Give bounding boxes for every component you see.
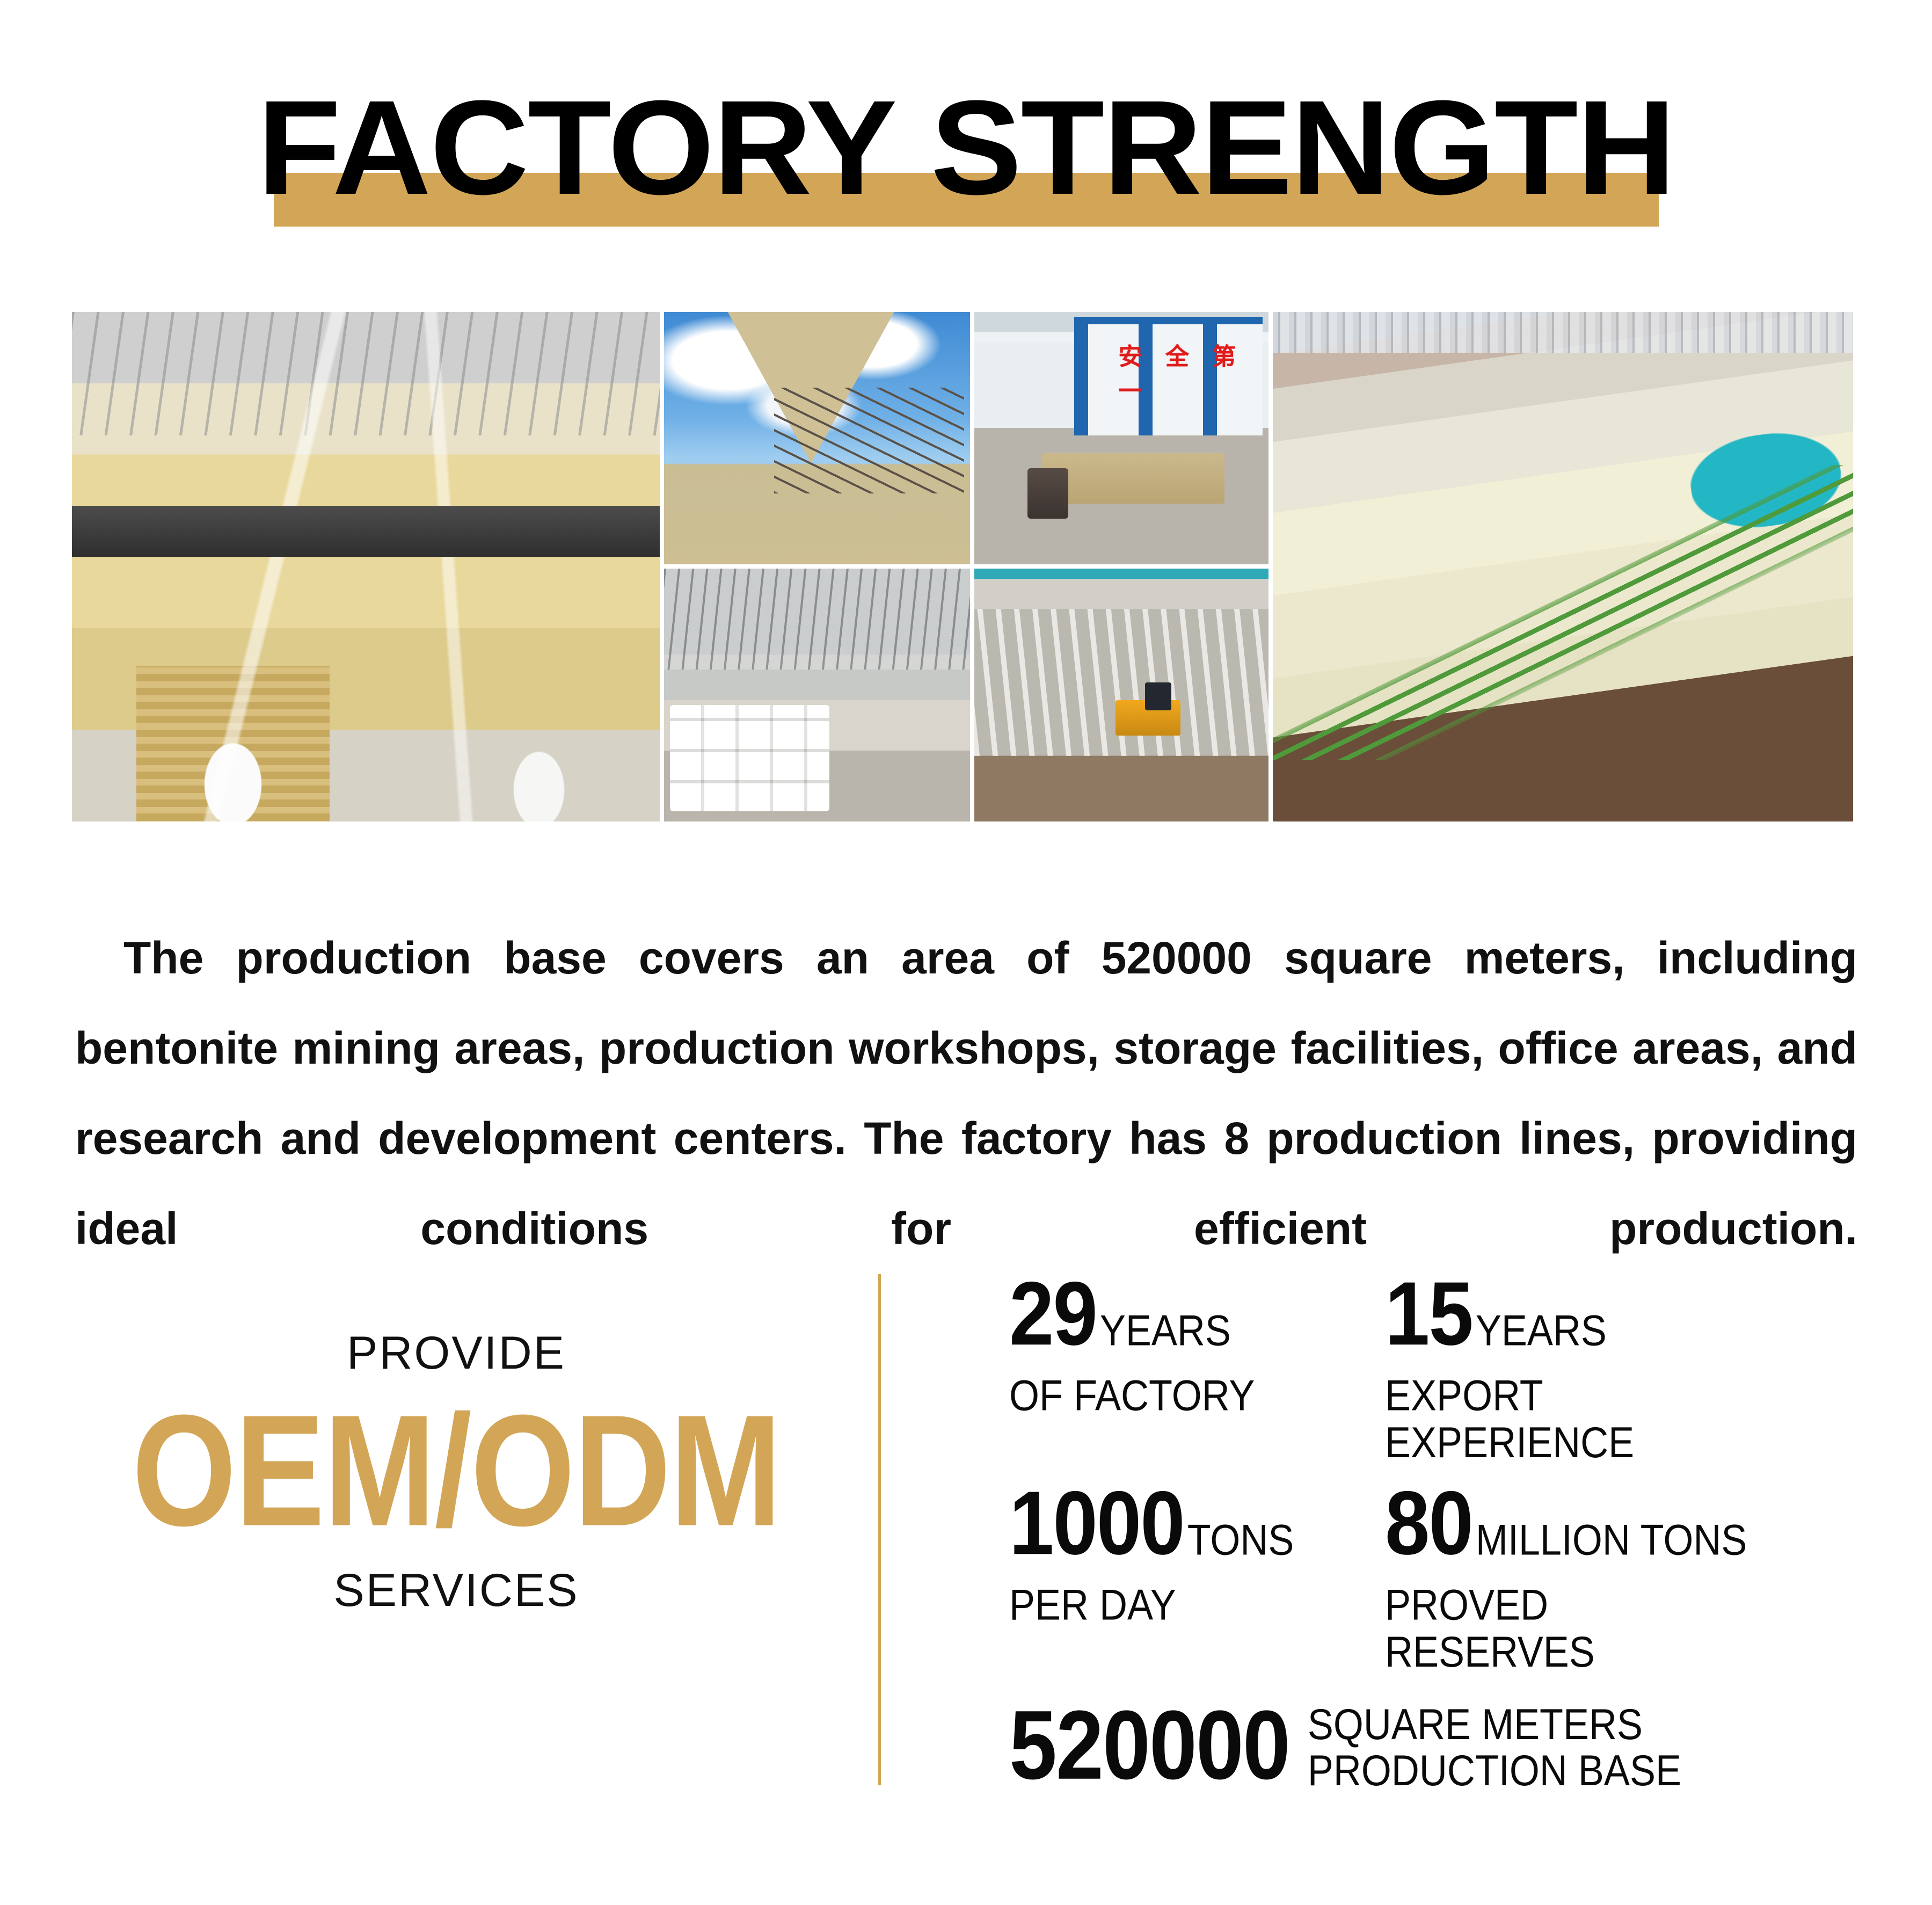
stat-row-3: 520000 SQUARE METERS PRODUCTION BASE [1009, 1699, 1879, 1791]
gallery-column-1 [72, 312, 660, 821]
section-divider [878, 1274, 881, 1785]
photo-aerial-mining-area [1273, 312, 1853, 821]
stat-number: 1000 [1009, 1478, 1184, 1568]
stat-number: 80 [1385, 1478, 1472, 1568]
factory-strength-page: FACTORY STRENGTH 安 全 第 一 [0, 0, 1932, 1905]
stat-sublabel: EXPORT EXPERIENCE [1385, 1372, 1761, 1466]
stat-headline: 15 YEARS [1385, 1278, 1761, 1358]
oem-provide-label: PROVIDE [97, 1326, 816, 1380]
photo-bentonite-stockpile-conveyor [664, 312, 970, 564]
stat-row-1: 29 YEARS OF FACTORY 15 YEARS EXPORT EXPE… [1009, 1278, 1879, 1456]
stat-unit: MILLION TONS [1476, 1518, 1747, 1562]
photo-loading-yard-truck: 安 全 第 一 [974, 312, 1268, 564]
stat-headline: 80 MILLION TONS [1385, 1487, 1761, 1568]
truck-trailer-shape [1042, 453, 1224, 504]
stat-number: 15 [1385, 1268, 1472, 1358]
truck-cab-shape [1027, 468, 1069, 519]
stat-unit: YEARS [1476, 1309, 1607, 1353]
stat-sublabel: PROVED RESERVES [1385, 1582, 1761, 1676]
photo-quarry-bulldozer [974, 569, 1268, 821]
photo-factory-interior-production-line [72, 312, 660, 821]
stat-sublabel: OF FACTORY [1009, 1372, 1385, 1419]
stat-production-base-number: 520000 [1009, 1696, 1289, 1794]
bulldozer-cab-shape [1145, 682, 1171, 710]
stat-tons-per-day: 1000 TONS PER DAY [1009, 1487, 1385, 1666]
stat-proved-reserves: 80 MILLION TONS PROVED RESERVES [1385, 1487, 1761, 1666]
stat-years-of-factory: 29 YEARS OF FACTORY [1009, 1278, 1385, 1456]
stat-unit: YEARS [1100, 1309, 1231, 1353]
stat-headline: 29 YEARS [1009, 1278, 1385, 1358]
photo-warehouse-bulk-bags [664, 569, 970, 821]
warehouse-safety-sign-text: 安 全 第 一 [1119, 337, 1268, 406]
stat-row-2: 1000 TONS PER DAY 80 MILLION TONS PROVED… [1009, 1487, 1879, 1666]
page-title-block: FACTORY STRENGTH [0, 0, 1932, 161]
distant-city-skyline [1273, 312, 1853, 353]
stat-sublabel: PER DAY [1009, 1582, 1385, 1628]
gallery-column-4 [1273, 312, 1853, 821]
stat-unit: TONS [1187, 1518, 1294, 1562]
stat-years-export-experience: 15 YEARS EXPORT EXPERIENCE [1385, 1278, 1761, 1456]
oem-odm-headline: OEM/ODM [97, 1385, 816, 1557]
stat-sublabel: PRODUCTION BASE [1308, 1745, 1681, 1797]
page-title: FACTORY STRENGTH [0, 81, 1932, 215]
statistics-block: 29 YEARS OF FACTORY 15 YEARS EXPORT EXPE… [1009, 1278, 1879, 1791]
stat-number: 29 [1009, 1268, 1097, 1358]
oem-odm-block: PROVIDE OEM/ODM SERVICES [97, 1326, 816, 1617]
stat-unit: SQUARE METERS [1308, 1699, 1681, 1750]
gallery-column-2 [664, 312, 970, 821]
factory-photo-gallery: 安 全 第 一 [72, 312, 1860, 821]
oem-services-label: SERVICES [97, 1564, 816, 1617]
stat-production-base-labels: SQUARE METERS PRODUCTION BASE [1308, 1699, 1681, 1791]
stat-headline: 1000 TONS [1009, 1487, 1385, 1568]
gallery-column-3: 安 全 第 一 [974, 312, 1268, 821]
